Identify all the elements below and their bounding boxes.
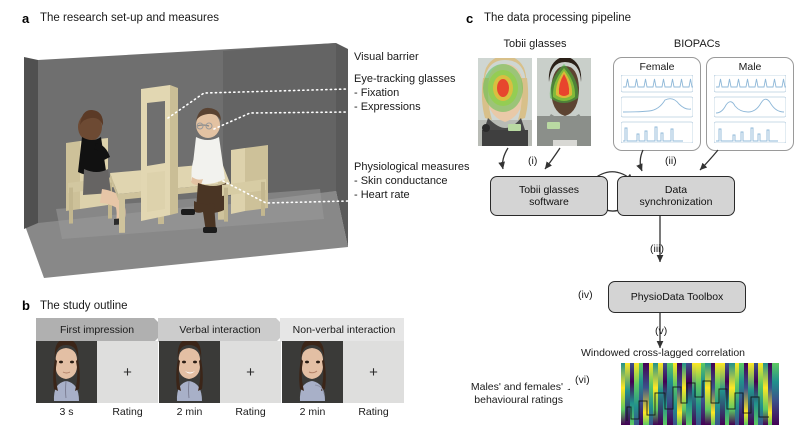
biopac-signals-female bbox=[621, 75, 693, 143]
panel-b-letter: b bbox=[22, 299, 30, 312]
arrow-biopac-male-to-sync bbox=[700, 150, 718, 170]
caption-rating-2: Rating bbox=[220, 406, 281, 418]
caption-duration-3: 2 min bbox=[282, 406, 343, 418]
study-timeline: First impression Verbal interaction Non-… bbox=[36, 318, 404, 342]
annotation-physiological-item-skin-conductance: - Skin conductance bbox=[354, 174, 470, 188]
wclc-heatmap bbox=[621, 363, 779, 425]
arrow-tobii-female-to-software bbox=[503, 148, 508, 169]
annotation-physiological-title: Physiological measures bbox=[354, 160, 470, 174]
face-image-3 bbox=[282, 341, 343, 403]
fixation-cross-3: + bbox=[369, 365, 378, 380]
data-sync-label: Data synchronization bbox=[640, 184, 713, 209]
gaze-heatmap-female bbox=[478, 58, 532, 146]
face-image-1 bbox=[36, 341, 97, 403]
panel-c-title: The data processing pipeline bbox=[484, 12, 631, 24]
fixation-cross-1: + bbox=[123, 365, 132, 380]
annotation-eye-tracking-item-expressions: - Expressions bbox=[354, 100, 456, 114]
step-tag-ii: (ii) bbox=[665, 155, 677, 167]
physiodata-toolbox-label: PhysioData Toolbox bbox=[631, 291, 724, 304]
face-image-2 bbox=[159, 341, 220, 403]
fixation-cross-2: + bbox=[246, 365, 255, 380]
biopac-box-female: Female bbox=[613, 57, 701, 151]
tobii-thumbnail-female bbox=[478, 58, 532, 146]
step-tag-vi: (vi) bbox=[575, 374, 590, 386]
annotation-physiological-item-heart-rate: - Heart rate bbox=[354, 188, 470, 202]
trial-sequence-strip: + + bbox=[36, 341, 404, 403]
rating-screen-2: + bbox=[220, 341, 281, 403]
biopac-signals-male bbox=[714, 75, 786, 143]
process-box-tobii-software[interactable]: Tobii glasses software bbox=[490, 176, 608, 216]
annotation-eye-tracking: Eye-tracking glasses - Fixation - Expres… bbox=[354, 72, 456, 114]
tobii-software-label: Tobii glasses software bbox=[519, 184, 579, 209]
step-tag-v: (v) bbox=[655, 325, 667, 337]
process-box-data-synchronization[interactable]: Data synchronization bbox=[617, 176, 735, 216]
biopac-box-male: Male bbox=[706, 57, 794, 151]
room-illustration bbox=[18, 33, 348, 278]
annotation-physiological: Physiological measures - Skin conductanc… bbox=[354, 160, 470, 202]
arrow-biopac-female-to-sync bbox=[640, 150, 643, 171]
source-header-tobii: Tobii glasses bbox=[476, 38, 594, 50]
wclc-label: Windowed cross-lagged correlation bbox=[581, 347, 745, 359]
caption-rating-1: Rating bbox=[97, 406, 158, 418]
biopac-label-female: Female bbox=[614, 61, 700, 73]
heatmap-blob-female bbox=[483, 64, 523, 112]
caption-duration-2: 2 min bbox=[159, 406, 220, 418]
panel-b-title: The study outline bbox=[40, 300, 128, 312]
tobii-thumbnail-male bbox=[537, 58, 591, 146]
step-tag-iii: (iii) bbox=[650, 243, 664, 255]
stimulus-face-1 bbox=[36, 341, 97, 403]
panel-c-letter: c bbox=[466, 12, 473, 25]
gaze-heatmap-male bbox=[537, 58, 591, 146]
step-tag-iv: (iv) bbox=[578, 289, 593, 301]
annotation-eye-tracking-title: Eye-tracking glasses bbox=[354, 72, 456, 86]
annotation-eye-tracking-item-fixation: - Fixation bbox=[354, 86, 456, 100]
stimulus-face-3 bbox=[282, 341, 343, 403]
arrow-tobii-male-to-software bbox=[545, 148, 560, 169]
wclc-heatmap-svg bbox=[621, 363, 779, 425]
annotation-visual-barrier: Visual barrier bbox=[354, 50, 419, 64]
phase-label-first-impression: First impression bbox=[60, 324, 134, 336]
rating-screen-3: + bbox=[343, 341, 404, 403]
behavioural-ratings-line1: Males' and females' bbox=[455, 381, 563, 394]
behavioural-ratings-label: Males' and females' behavioural ratings bbox=[455, 381, 563, 407]
panel-a-title: The research set-up and measures bbox=[40, 12, 219, 24]
biopac-label-male: Male bbox=[707, 61, 793, 73]
phase-label-verbal-interaction: Verbal interaction bbox=[179, 324, 260, 336]
stimulus-face-2 bbox=[159, 341, 220, 403]
visual-barrier bbox=[141, 85, 178, 221]
panel-a-letter: a bbox=[22, 12, 29, 25]
research-setup-scene bbox=[18, 33, 348, 278]
rating-screen-1: + bbox=[97, 341, 158, 403]
process-box-physiodata-toolbox[interactable]: PhysioData Toolbox bbox=[608, 281, 746, 313]
caption-duration-1: 3 s bbox=[36, 406, 97, 418]
step-tag-i: (i) bbox=[528, 155, 537, 167]
behavioural-ratings-line2: behavioural ratings bbox=[455, 394, 563, 407]
caption-rating-3: Rating bbox=[343, 406, 404, 418]
source-header-biopacs: BIOPACs bbox=[638, 38, 756, 50]
phase-label-nonverbal-interaction: Non-verbal interaction bbox=[293, 324, 396, 336]
